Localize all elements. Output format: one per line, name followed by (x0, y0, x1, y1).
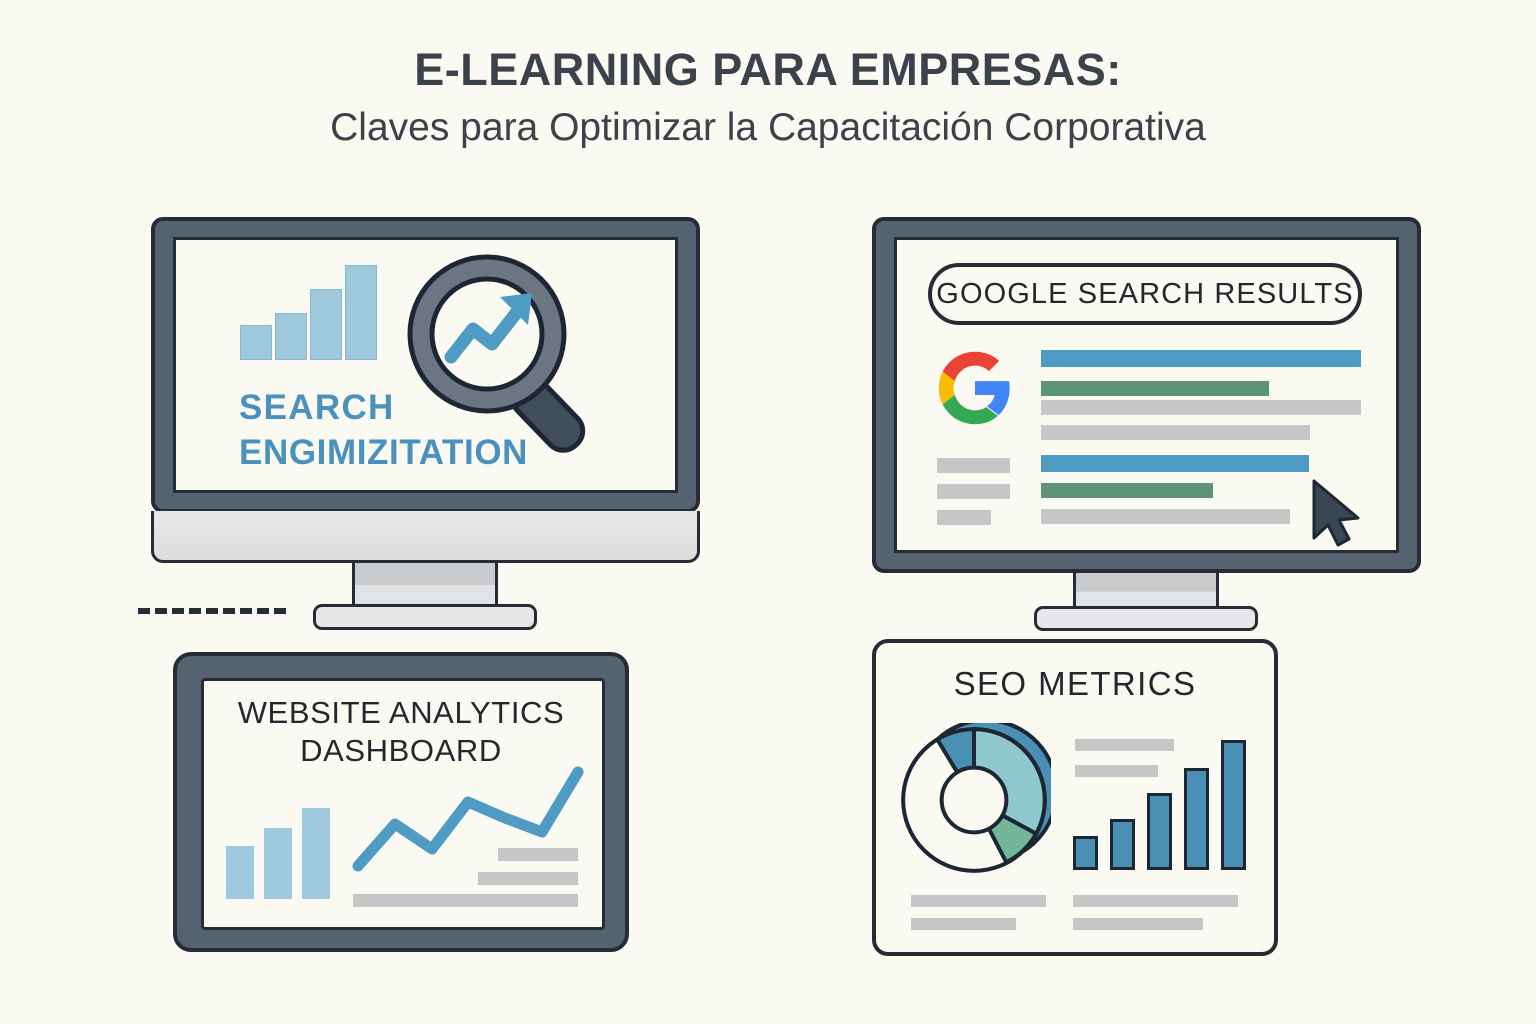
seo-donut-chart (897, 723, 1051, 877)
tablet-placeholder-2 (478, 872, 578, 885)
result-1-url (1041, 381, 1269, 396)
result-2-title[interactable] (1041, 455, 1309, 472)
page-title-block: E-LEARNING PARA EMPRESAS: Claves para Op… (0, 46, 1536, 150)
sidebar-line-1 (937, 458, 1010, 473)
seo-card-title: SEO METRICS (876, 665, 1274, 703)
dashed-connector (138, 608, 286, 614)
seo-screen-line2: ENGIMIZITATION (239, 433, 528, 473)
seo-screen-line1: SEARCH (239, 388, 395, 428)
seo-bar-2 (1110, 819, 1135, 870)
monitor-base-left (313, 604, 537, 630)
bar-4 (345, 265, 377, 360)
sidebar-line-3 (937, 510, 991, 525)
tablet-placeholder-3 (353, 894, 578, 907)
result-1-title[interactable] (1041, 350, 1361, 367)
kpi-line-bottom-right (1073, 918, 1203, 930)
monitor-neck-left (352, 563, 498, 608)
page-title: E-LEARNING PARA EMPRESAS: (0, 46, 1536, 93)
kpi-line-b (1075, 765, 1158, 777)
search-bar-label: GOOGLE SEARCH RESULTS (936, 278, 1353, 311)
bar-1 (240, 325, 272, 360)
sidebar-line-2 (937, 484, 1010, 499)
result-2-snippet (1041, 509, 1290, 524)
google-g-logo (938, 351, 1012, 425)
result-2-url (1041, 483, 1213, 498)
bar-2 (275, 313, 307, 360)
kpi-line-top-left (911, 895, 1046, 907)
kpi-line-bottom-left (911, 918, 1016, 930)
tablet-title-line1: WEBSITE ANALYTICS (197, 695, 605, 731)
result-1-snippet-1 (1041, 400, 1361, 415)
seo-bar-4 (1184, 768, 1209, 870)
monitor-chin-left (151, 511, 700, 563)
result-1-snippet-2 (1041, 425, 1310, 440)
mouse-pointer-icon[interactable] (1308, 478, 1364, 548)
kpi-line-top-right (1073, 895, 1238, 907)
search-bar-pill[interactable]: GOOGLE SEARCH RESULTS (928, 263, 1362, 325)
seo-bar-3 (1147, 793, 1172, 870)
monitor-base-right (1034, 606, 1258, 631)
magnifier-growth-icon (396, 243, 612, 459)
page-subtitle: Claves para Optimizar la Capacitación Co… (0, 107, 1536, 150)
tablet-bar-2 (264, 828, 292, 899)
seo-bar-1 (1073, 836, 1098, 870)
kpi-line-a (1075, 739, 1174, 751)
tablet-bar-1 (226, 846, 254, 899)
seo-bar-5 (1221, 740, 1246, 870)
tablet-bar-3 (302, 808, 330, 899)
bar-3 (310, 289, 342, 360)
tablet-placeholder-1 (498, 848, 578, 861)
